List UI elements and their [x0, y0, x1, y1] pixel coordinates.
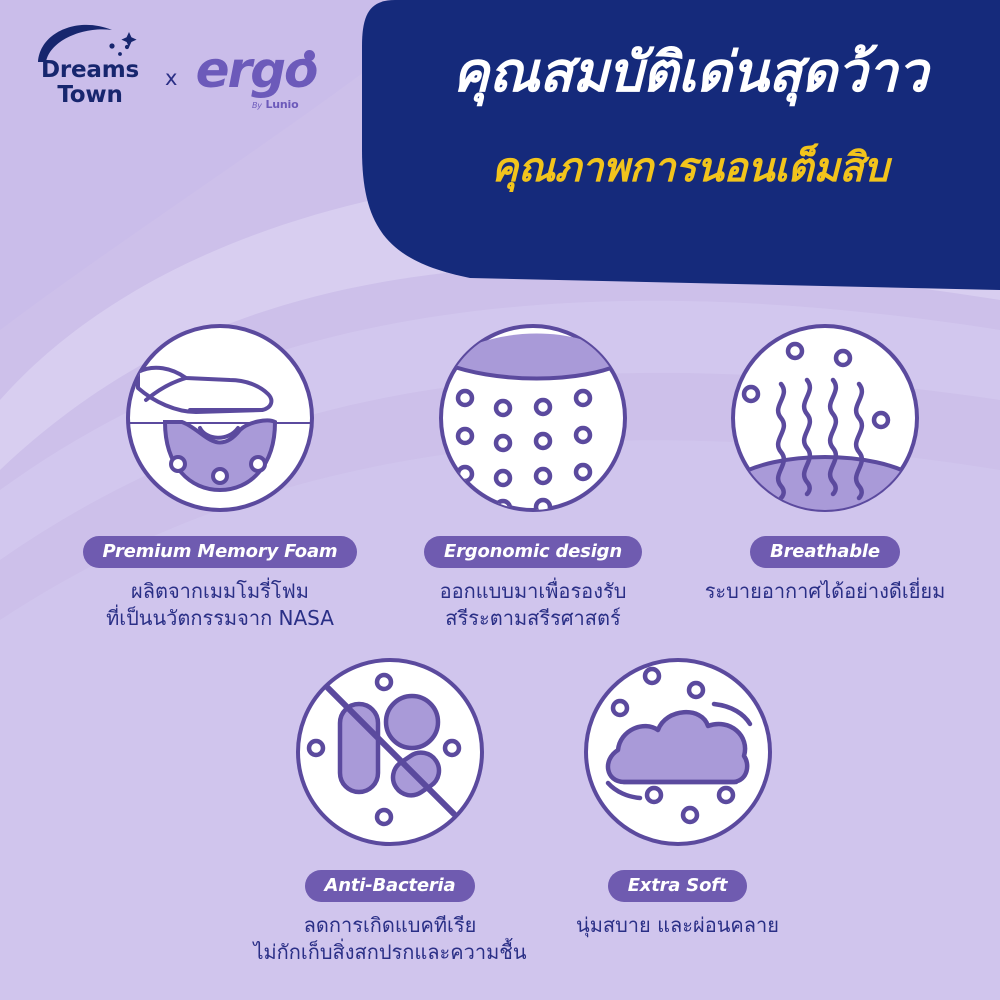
badge-row: Anti-Bacteria	[225, 870, 555, 902]
feature-card-premium-memory-foam: Premium Memory Foam ผลิตจากเมมโมรี่โฟม ท…	[35, 318, 405, 632]
ergo-parent-label: Lunio	[265, 98, 298, 111]
feature-badge-breathable: Breathable	[750, 536, 900, 568]
infographic-canvas: Dreams Town x ergo By Lunio คุณสมบัติเด่…	[0, 0, 1000, 1000]
desc-line-2: ไม่กักเก็บสิ่งสกปรกและความชื้น	[225, 939, 555, 966]
desc-line-2: ที่เป็นนวัตกรรมจาก NASA	[35, 605, 405, 632]
icon-container	[545, 652, 810, 856]
feature-card-anti-bacteria: Anti-Bacteria ลดการเกิดแบคทีเรีย ไม่กักเ…	[225, 652, 555, 966]
badge-row: Ergonomic design	[383, 536, 683, 568]
badge-row: Premium Memory Foam	[35, 536, 405, 568]
feature-description-premium-memory-foam: ผลิตจากเมมโมรี่โฟม ที่เป็นนวัตกรรมจาก NA…	[35, 578, 405, 632]
ergo-dot-icon	[304, 50, 315, 61]
desc-line-1: ระบายอากาศได้อย่างดีเยี่ยม	[665, 578, 985, 605]
desc-line-1: ออกแบบมาเพื่อรองรับ	[383, 578, 683, 605]
perforated-pillow-icon	[433, 318, 633, 518]
dreams-town-logo: Dreams Town	[26, 16, 154, 120]
feature-badge-ergonomic-design: Ergonomic design	[424, 536, 642, 568]
feature-card-extra-soft: Extra Soft นุ่มสบาย และผ่อนคลาย	[545, 652, 810, 939]
bacteria-blocked-icon	[290, 652, 490, 852]
desc-line-1: ผลิตจากเมมโมรี่โฟม	[35, 578, 405, 605]
feature-badge-anti-bacteria: Anti-Bacteria	[305, 870, 476, 902]
icon-container	[35, 318, 405, 522]
airflow-waves-icon	[725, 318, 925, 518]
desc-line-1: นุ่มสบาย และผ่อนคลาย	[545, 912, 810, 939]
feature-badge-premium-memory-foam: Premium Memory Foam	[83, 536, 358, 568]
feature-description-breathable: ระบายอากาศได้อย่างดีเยี่ยม	[665, 578, 985, 605]
feature-card-ergonomic-design: Ergonomic design ออกแบบมาเพื่อรองรับ สรี…	[383, 318, 683, 632]
dreams-town-line2: Town	[26, 83, 154, 108]
ergo-by-label: By	[252, 101, 262, 110]
feature-badge-extra-soft: Extra Soft	[608, 870, 748, 902]
feature-description-ergonomic-design: ออกแบบมาเพื่อรองรับ สรีระตามสรีรศาสตร์	[383, 578, 683, 632]
brand-logo-row: Dreams Town x ergo By Lunio	[26, 16, 326, 122]
hand-pressing-foam-icon	[120, 318, 320, 518]
icon-container	[383, 318, 683, 522]
logo-separator-x: x	[165, 66, 177, 90]
icon-container	[665, 318, 985, 522]
feature-description-extra-soft: นุ่มสบาย และผ่อนคลาย	[545, 912, 810, 939]
feature-description-anti-bacteria: ลดการเกิดแบคทีเรีย ไม่กักเก็บสิ่งสกปรกแล…	[225, 912, 555, 966]
dreams-town-wordmark: Dreams Town	[26, 58, 154, 108]
ergo-logo: ergo By Lunio	[194, 42, 330, 124]
feature-card-breathable: Breathable ระบายอากาศได้อย่างดีเยี่ยม	[665, 318, 985, 605]
dreams-town-line1: Dreams	[26, 58, 154, 83]
badge-row: Extra Soft	[545, 870, 810, 902]
ergo-byline: By Lunio	[252, 98, 298, 111]
page-subtitle: คุณภาพการนอนเต็มสิบ	[400, 144, 980, 192]
icon-container	[225, 652, 555, 856]
soft-cloud-icon	[578, 652, 778, 852]
desc-line-1: ลดการเกิดแบคทีเรีย	[225, 912, 555, 939]
badge-row: Breathable	[665, 536, 985, 568]
ergo-wordmark: ergo	[194, 44, 318, 96]
page-title: คุณสมบัติเด่นสุดว้าว	[400, 40, 980, 104]
desc-line-2: สรีระตามสรีรศาสตร์	[383, 605, 683, 632]
